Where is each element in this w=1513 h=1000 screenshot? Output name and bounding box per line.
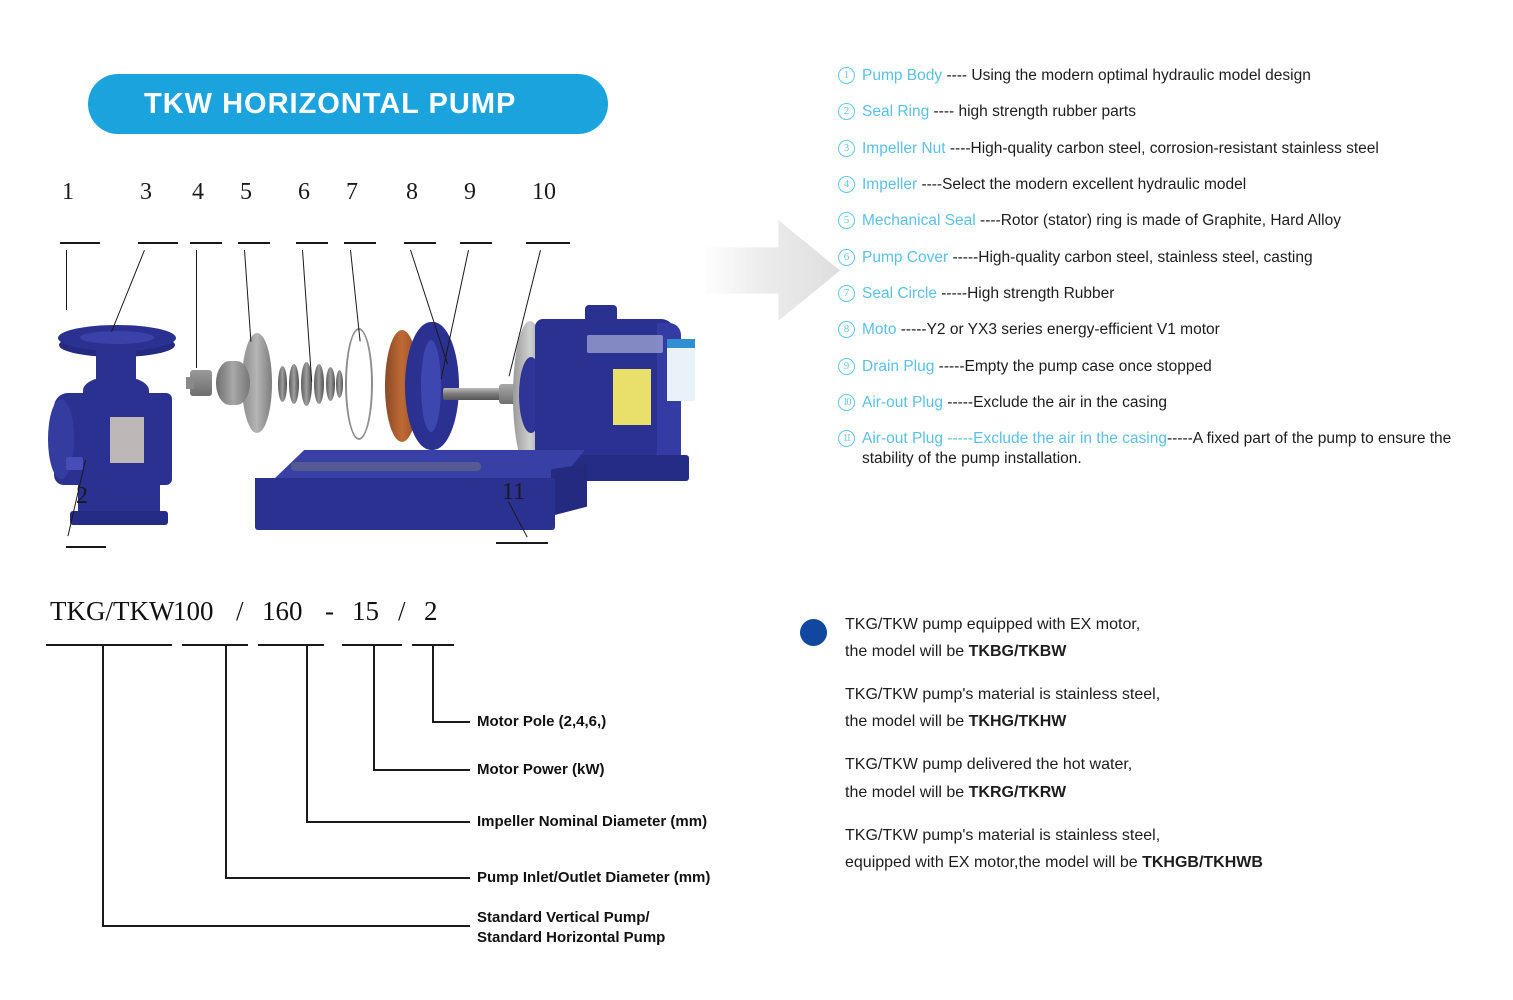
- model-label-inlet-dia: Pump Inlet/Outlet Diameter (mm): [477, 868, 710, 888]
- leader-line: [196, 250, 197, 368]
- callout-underline: [138, 242, 178, 244]
- leader-line: [350, 250, 361, 342]
- note-line: the model will be TKBG/TKBW: [845, 641, 1480, 662]
- circled-number-icon: 8: [838, 321, 855, 338]
- leader-horizontal: [432, 721, 470, 723]
- seal-ring-art: [326, 367, 335, 401]
- callout-number: 10: [532, 179, 556, 206]
- legend-separator: -----: [896, 321, 926, 338]
- note-model-code: TKHGB/TKHWB: [1142, 854, 1263, 871]
- callout-underline: [66, 546, 106, 548]
- seal-ring-art: [314, 364, 324, 404]
- legend-part-name: Impeller Nut: [862, 140, 946, 157]
- legend-item: 10 Air-out Plug -----Exclude the air in …: [838, 393, 1498, 413]
- legend-separator: -----: [937, 285, 967, 302]
- arrow-shape: [700, 218, 840, 323]
- legend-description: High-quality carbon steel, corrosion-res…: [971, 140, 1379, 157]
- legend-item: 1 Pump Body ---- Using the modern optima…: [838, 66, 1498, 86]
- callout-number: 7: [346, 179, 358, 206]
- legend-item: 9 Drain Plug -----Empty the pump case on…: [838, 357, 1498, 377]
- legend-item: 3 Impeller Nut ----High-quality carbon s…: [838, 139, 1498, 159]
- model-code-diagram: TKG/TKW 100 / 160 - 15 / 2 Motor Pole (2…: [40, 596, 740, 956]
- circled-number-icon: 5: [838, 212, 855, 229]
- callout-number: 11: [502, 479, 525, 506]
- model-dash: -: [325, 596, 334, 627]
- circled-number-icon: 6: [838, 249, 855, 266]
- circled-number-icon: 1: [838, 67, 855, 84]
- note-line: equipped with EX motor,the model will be…: [845, 852, 1480, 873]
- model-label-standard-pump: Standard Vertical Pump/ Standard Horizon…: [477, 908, 665, 948]
- legend-separator: -----: [948, 249, 978, 266]
- legend-part-name: Drain Plug: [862, 358, 934, 375]
- circled-number-icon: 10: [838, 394, 855, 411]
- legend-part-name: Pump Cover: [862, 249, 948, 266]
- seal-ring-art: [278, 366, 287, 402]
- exploded-pump-diagram: 1 3 4 5 6 7 8 9: [40, 210, 700, 565]
- leader-vertical: [225, 644, 227, 878]
- impeller-nut-art: [190, 370, 212, 396]
- callout-underline: [344, 242, 376, 244]
- title-banner: TKW HORIZONTAL PUMP: [88, 74, 608, 134]
- callout-underline: [526, 242, 570, 244]
- seal-ring-art: [336, 370, 343, 398]
- circled-number-icon: 2: [838, 103, 855, 120]
- leader-vertical: [432, 644, 434, 722]
- callout-number: 9: [464, 179, 476, 206]
- legend-item: 11 Air-out Plug -----Exclude the air in …: [838, 429, 1498, 469]
- model-label-motor-pole: Motor Pole (2,4,6,): [477, 712, 606, 732]
- callout-number: 5: [240, 179, 252, 206]
- segment-underline: [258, 644, 324, 646]
- note-text: equipped with EX motor,the model will be: [845, 854, 1142, 871]
- callout-underline: [238, 242, 270, 244]
- base-plate-highlight: [291, 462, 481, 471]
- legend-item: 5 Mechanical Seal ----Rotor (stator) rin…: [838, 211, 1498, 231]
- callout-underline: [460, 242, 492, 244]
- legend-separator: -----: [943, 394, 973, 411]
- base-plate-art: [255, 450, 585, 535]
- impeller-art: [216, 333, 272, 433]
- bullet-dot-icon: [800, 619, 827, 646]
- leader-horizontal: [306, 821, 470, 823]
- drain-plug-art: [66, 457, 83, 470]
- callout-number: 8: [406, 179, 418, 206]
- note-text: TKG/TKW pump's material is stainless ste…: [845, 686, 1160, 703]
- legend-description: Select the modern excellent hydraulic mo…: [942, 176, 1246, 193]
- legend-separator: ----: [976, 212, 1001, 229]
- model-variant-notes: TKG/TKW pump equipped with EX motor, the…: [800, 614, 1480, 895]
- notes-body: TKG/TKW pump equipped with EX motor, the…: [845, 614, 1480, 873]
- motor-shaft: [443, 388, 515, 400]
- motor-nameplate: [613, 369, 651, 425]
- circled-number-icon: 9: [838, 358, 855, 375]
- legend-part-name: Impeller: [862, 176, 917, 193]
- model-label-impeller-dia: Impeller Nominal Diameter (mm): [477, 812, 707, 832]
- legend-description: High strength Rubber: [967, 285, 1114, 302]
- pump-body-label-plate: [110, 417, 144, 463]
- leader-horizontal: [373, 769, 470, 771]
- motor-terminal-box: [587, 335, 663, 353]
- legend-description-cyan: Exclude the air in the casing: [973, 430, 1167, 447]
- leader-line: [66, 250, 67, 310]
- base-plate-side: [551, 464, 587, 516]
- note-text: TKG/TKW pump delivered the hot water,: [845, 756, 1132, 773]
- model-inlet: 100: [173, 596, 214, 627]
- note-line: TKG/TKW pump delivered the hot water,: [845, 754, 1480, 775]
- callout-underline: [404, 242, 436, 244]
- legend-item: 6 Pump Cover -----High-quality carbon st…: [838, 248, 1498, 268]
- legend-separator: ----: [946, 140, 971, 157]
- model-slash-2: /: [398, 596, 406, 627]
- legend-description: Exclude the air in the casing: [973, 394, 1167, 411]
- segment-underline: [182, 644, 248, 646]
- note-text: the model will be: [845, 784, 969, 801]
- model-prefix: TKG/TKW: [50, 596, 174, 627]
- legend-description: Y2 or YX3 series energy-efficient V1 mot…: [927, 321, 1220, 338]
- circled-number-icon: 11: [838, 430, 855, 447]
- note-line: TKG/TKW pump's material is stainless ste…: [845, 684, 1480, 705]
- note-model-code: TKBG/TKBW: [969, 643, 1067, 660]
- callout-number: 3: [140, 179, 152, 206]
- infographic-page: TKW HORIZONTAL PUMP: [0, 0, 1513, 1000]
- callout-underline: [60, 242, 100, 244]
- leader-vertical: [306, 644, 308, 822]
- legend-item: 7 Seal Circle -----High strength Rubber: [838, 284, 1498, 304]
- segment-underline: [342, 644, 402, 646]
- motor-sticker: [667, 339, 695, 401]
- legend-description: High-quality carbon steel, stainless ste…: [978, 249, 1312, 266]
- note-text: the model will be: [845, 643, 969, 660]
- legend-description: high strength rubber parts: [958, 103, 1136, 120]
- legend-part-name: Moto: [862, 321, 896, 338]
- model-power: 15: [352, 596, 379, 627]
- seal-ring-art: [289, 364, 299, 404]
- leader-line: [244, 250, 252, 342]
- model-slash-1: /: [236, 596, 244, 627]
- legend-separator: -----: [934, 358, 964, 375]
- note-text: TKG/TKW pump's material is stainless ste…: [845, 827, 1160, 844]
- seal-circle-art: [345, 328, 373, 440]
- note-model-code: TKRG/TKRW: [969, 784, 1066, 801]
- legend-part-name: Air-out Plug: [862, 430, 943, 447]
- legend-description: Using the modern optimal hydraulic model…: [971, 67, 1310, 84]
- legend-separator: ----: [942, 67, 971, 84]
- legend-part-name: Air-out Plug: [862, 394, 943, 411]
- legend-separator: -----: [943, 430, 973, 447]
- legend-item: 8 Moto -----Y2 or YX3 series energy-effi…: [838, 320, 1498, 340]
- callout-underline: [190, 242, 222, 244]
- note-text: the model will be: [845, 713, 969, 730]
- leader-vertical: [373, 644, 375, 770]
- note-text: TKG/TKW pump equipped with EX motor,: [845, 616, 1140, 633]
- legend-part-name: Seal Circle: [862, 285, 937, 302]
- pump-foot: [78, 481, 160, 523]
- legend-description: Rotor (stator) ring is made of Graphite,…: [1001, 212, 1341, 229]
- page-title: TKW HORIZONTAL PUMP: [88, 88, 516, 121]
- callout-number: 2: [76, 483, 88, 510]
- note-line: TKG/TKW pump equipped with EX motor,: [845, 614, 1480, 635]
- leader-horizontal: [225, 877, 470, 879]
- legend-item: 4 Impeller ----Select the modern excelle…: [838, 175, 1498, 195]
- note-line: the model will be TKRG/TKRW: [845, 782, 1480, 803]
- segment-underline: [46, 644, 172, 646]
- circled-number-icon: 3: [838, 140, 855, 157]
- circled-number-icon: 4: [838, 176, 855, 193]
- callout-number: 4: [192, 179, 204, 206]
- flow-arrow-icon: [700, 218, 840, 323]
- leader-horizontal: [102, 925, 470, 927]
- impeller-hub: [216, 361, 250, 405]
- model-impeller: 160: [262, 596, 303, 627]
- leader-vertical: [102, 644, 104, 926]
- parts-legend: 1 Pump Body ---- Using the modern optima…: [838, 66, 1498, 485]
- legend-part-name: Pump Body: [862, 67, 942, 84]
- legend-separator: ----: [917, 176, 942, 193]
- callout-number: 6: [298, 179, 310, 206]
- note-line: the model will be TKHG/TKHW: [845, 711, 1480, 732]
- model-label-line-1: Standard Vertical Pump/: [477, 908, 665, 928]
- model-label-line-2: Standard Horizontal Pump: [477, 928, 665, 948]
- note-model-code: TKHG/TKHW: [969, 713, 1067, 730]
- model-pole: 2: [424, 596, 438, 627]
- callout-underline: [296, 242, 328, 244]
- legend-part-name: Mechanical Seal: [862, 212, 976, 229]
- model-label-motor-power: Motor Power (kW): [477, 760, 605, 780]
- motor-top-box: [585, 305, 617, 327]
- legend-description: Empty the pump case once stopped: [965, 358, 1212, 375]
- callout-number: 1: [62, 179, 74, 206]
- legend-separator: ----: [929, 103, 958, 120]
- callout-underline: [496, 542, 548, 544]
- legend-item: 2 Seal Ring ---- high strength rubber pa…: [838, 102, 1498, 122]
- legend-part-name: Seal Ring: [862, 103, 929, 120]
- note-line: TKG/TKW pump's material is stainless ste…: [845, 825, 1480, 846]
- circled-number-icon: 7: [838, 285, 855, 302]
- pump-body-art: [50, 265, 180, 520]
